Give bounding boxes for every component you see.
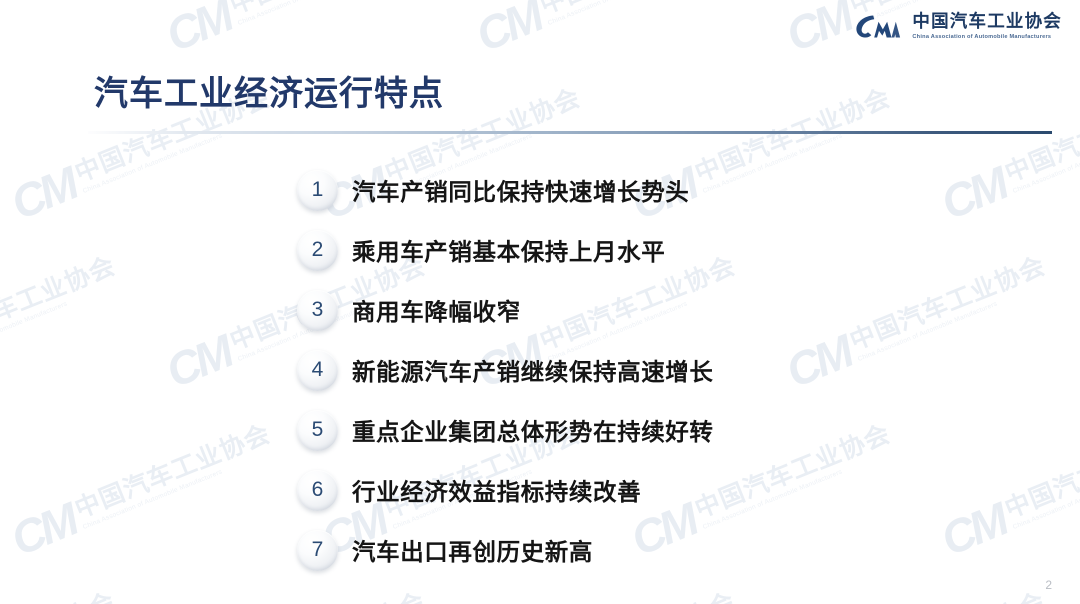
watermark-mark: CM中国汽车工业协会China Association of Automobil…	[780, 584, 1055, 604]
page-title: 汽车工业经济运行特点	[94, 66, 444, 115]
slide-canvas: CM中国汽车工业协会China Association of Automobil…	[0, 0, 1080, 604]
watermark-text-cn: 中国汽车工业协会	[692, 421, 894, 522]
watermark-text-cn: 中国汽车工业协会	[227, 0, 429, 18]
list-item[interactable]: 4新能源汽车产销继续保持高速增长	[297, 340, 714, 400]
list-item-number: 1	[312, 179, 324, 201]
watermark-mark: CM中国汽车工业协会China Association of Automobil…	[935, 416, 1080, 563]
watermark-text-cn: 中国汽车工业协会	[537, 589, 739, 604]
watermark-text-cn: 中国汽车工业协会	[0, 589, 119, 604]
watermark-monogram-icon: CM	[160, 328, 236, 394]
watermark-mark: CM中国汽车工业协会China Association of Automobil…	[0, 584, 125, 604]
list-item-number: 7	[312, 539, 324, 561]
watermark-mark: CM中国汽车工业协会China Association of Automobil…	[780, 248, 1055, 395]
list-item-number-badge: 1	[297, 170, 338, 211]
list-item[interactable]: 1汽车产销同比保持快速增长势头	[297, 160, 714, 220]
list-item-number-badge: 2	[297, 230, 338, 271]
watermark-text-en: China Association of Automobile Manufact…	[0, 0, 122, 27]
list-item-label: 行业经济效益指标持续改善	[352, 473, 641, 507]
list-item-number: 4	[312, 359, 324, 381]
list-item-label: 汽车产销同比保持快速增长势头	[352, 173, 689, 207]
watermark-text-en: China Association of Automobile Manufact…	[0, 279, 122, 363]
page-number: 2	[1045, 578, 1052, 592]
watermark-text-cn: 中国汽车工业协会	[0, 0, 119, 18]
list-item-number-badge: 4	[297, 350, 338, 391]
list-item[interactable]: 6行业经济效益指标持续改善	[297, 460, 714, 520]
list-item[interactable]: 5重点企业集团总体形势在持续好转	[297, 400, 714, 460]
list-item-number-badge: 3	[297, 290, 338, 331]
list-item-number: 6	[312, 479, 324, 501]
watermark-monogram-icon: CM	[5, 496, 81, 562]
watermark-monogram-icon: CM	[5, 160, 81, 226]
watermark-text-en: China Association of Automobile Manufact…	[547, 0, 742, 27]
list-item-number: 3	[312, 299, 324, 321]
watermark-monogram-icon: CM	[935, 496, 1011, 562]
watermark-text-cn: 中国汽车工业协会	[1002, 421, 1080, 522]
watermark-monogram-icon: CM	[780, 0, 856, 59]
list-item[interactable]: 3商用车降幅收窄	[297, 280, 714, 340]
watermark-text-en: China Association of Automobile Manufact…	[82, 447, 277, 531]
watermark-mark: CM中国汽车工业协会China Association of Automobil…	[160, 584, 435, 604]
list-item-label: 新能源汽车产销继续保持高速增长	[352, 353, 714, 387]
watermark-mark: CM中国汽车工业协会China Association of Automobil…	[5, 416, 280, 563]
list-item-label: 乘用车产销基本保持上月水平	[352, 233, 665, 267]
watermark-text-en: China Association of Automobile Manufact…	[702, 447, 897, 531]
watermark-text-cn: 中国汽车工业协会	[537, 0, 739, 18]
brand-name-en: China Association of Automobile Manufact…	[912, 35, 1062, 41]
list-item-number-badge: 7	[297, 530, 338, 571]
caam-cm-monogram-icon	[855, 13, 903, 40]
watermark-mark: CM中国汽车工业协会China Association of Automobil…	[0, 0, 125, 59]
watermark-mark: CM中国汽车工业协会China Association of Automobil…	[935, 80, 1080, 227]
watermark-text-cn: 中国汽车工业协会	[847, 589, 1049, 604]
watermark-text-cn: 中国汽车工业协会	[72, 421, 274, 522]
watermark-text-cn: 中国汽车工业协会	[692, 85, 894, 186]
watermark-text-en: China Association of Automobile Manufact…	[857, 279, 1052, 363]
list-item-number-badge: 6	[297, 470, 338, 511]
watermark-text-cn: 中国汽车工业协会	[847, 253, 1049, 354]
brand-name-cn: 中国汽车工业协会	[912, 13, 1062, 31]
watermark-text-en: China Association of Automobile Manufact…	[1012, 447, 1080, 531]
brand-logo: 中国汽车工业协会 China Association of Automobile…	[855, 13, 1062, 40]
list-item-number: 5	[312, 419, 324, 441]
watermark-monogram-icon: CM	[935, 160, 1011, 226]
watermark-mark: CM中国汽车工业协会China Association of Automobil…	[470, 584, 745, 604]
list-item-label: 汽车出口再创历史新高	[352, 533, 593, 567]
watermark-monogram-icon: CM	[780, 328, 856, 394]
watermark-text-en: China Association of Automobile Manufact…	[82, 111, 277, 195]
feature-list: 1汽车产销同比保持快速增长势头2乘用车产销基本保持上月水平3商用车降幅收窄4新能…	[297, 160, 714, 580]
list-item-number: 2	[312, 239, 324, 261]
watermark-text-cn: 中国汽车工业协会	[1002, 85, 1080, 186]
watermark-text-en: China Association of Automobile Manufact…	[1012, 111, 1080, 195]
watermark-mark: CM中国汽车工业协会China Association of Automobil…	[0, 248, 125, 395]
list-item-label: 商用车降幅收窄	[352, 293, 521, 327]
watermark-mark: CM中国汽车工业协会China Association of Automobil…	[160, 0, 435, 59]
list-item-number-badge: 5	[297, 410, 338, 451]
watermark-text-en: China Association of Automobile Manufact…	[702, 111, 897, 195]
list-item[interactable]: 2乘用车产销基本保持上月水平	[297, 220, 714, 280]
watermark-monogram-icon: CM	[470, 0, 546, 59]
watermark-mark: CM中国汽车工业协会China Association of Automobil…	[470, 0, 745, 59]
list-item[interactable]: 7汽车出口再创历史新高	[297, 520, 714, 580]
list-item-label: 重点企业集团总体形势在持续好转	[352, 413, 714, 447]
watermark-monogram-icon: CM	[160, 0, 236, 59]
watermark-text-en: China Association of Automobile Manufact…	[237, 0, 432, 27]
watermark-text-cn: 中国汽车工业协会	[0, 253, 119, 354]
watermark-text-cn: 中国汽车工业协会	[227, 589, 429, 604]
title-divider	[88, 131, 1052, 134]
